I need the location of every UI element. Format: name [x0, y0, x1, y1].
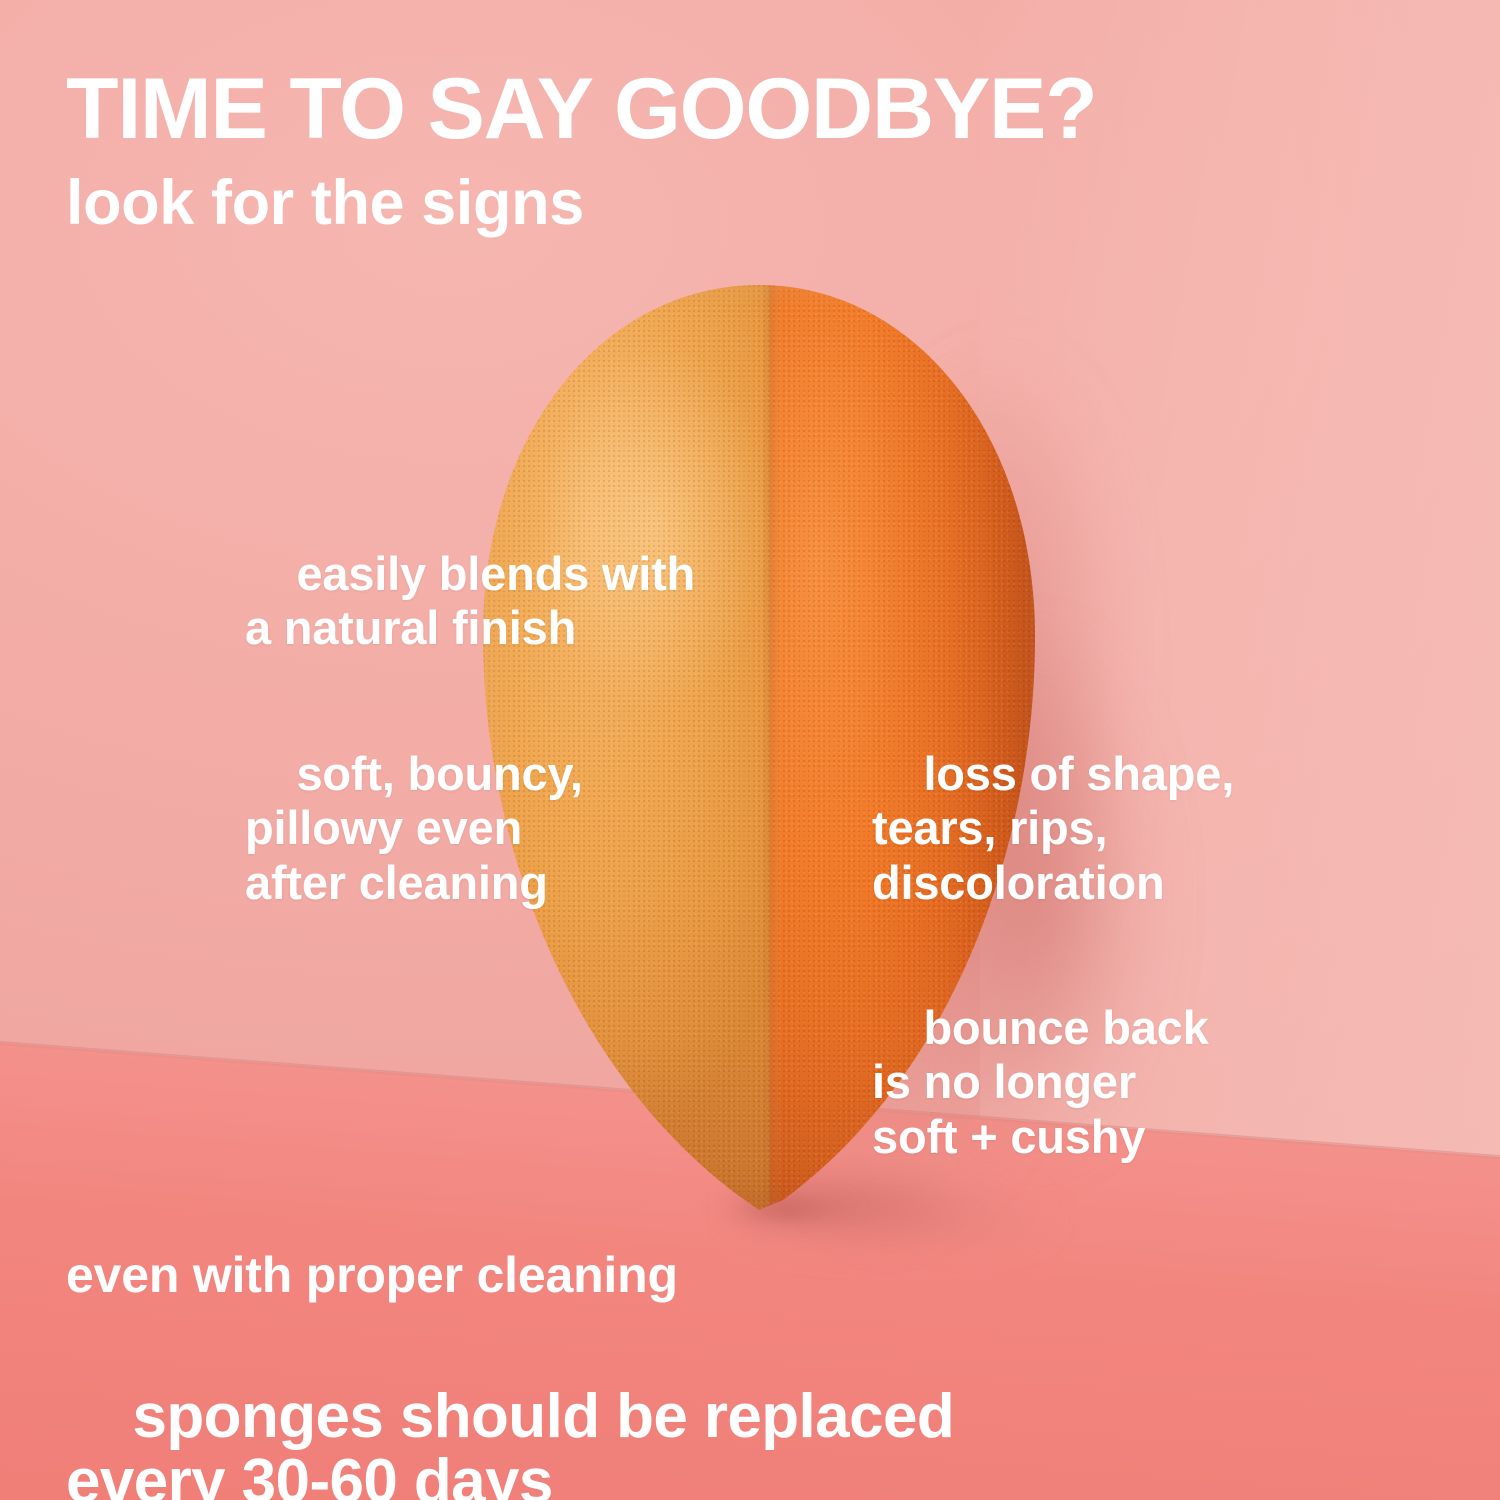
callout-line: loss of shape,	[923, 747, 1234, 800]
callout-line: soft + cushy	[872, 1110, 1145, 1163]
callout-loss-of-shape: loss of shape, tears, rips, discoloratio…	[872, 692, 1234, 965]
page-subtitle: look for the signs	[66, 172, 584, 235]
callout-bounce-back: bounce back is no longer soft + cushy	[872, 946, 1209, 1219]
callout-line: a natural finish	[245, 601, 576, 654]
callout-line: easily blends with	[296, 547, 695, 600]
callout-line: pillowy even	[245, 801, 522, 854]
callout-line: is no longer	[872, 1055, 1136, 1108]
page-title: TIME TO SAY GOODBYE?	[66, 66, 1097, 152]
callout-line: discoloration	[872, 856, 1164, 909]
infographic-canvas: TIME TO SAY GOODBYE? look for the signs …	[0, 0, 1500, 1500]
callout-line: tears, rips,	[872, 801, 1107, 854]
footer-line: every 30-60 days	[66, 1447, 553, 1500]
footer-note: even with proper cleaning	[66, 1250, 678, 1300]
callout-line: soft, bouncy,	[296, 747, 582, 800]
callout-line: bounce back	[923, 1001, 1208, 1054]
footer-line: sponges should be replaced	[133, 1382, 955, 1451]
callout-soft-bouncy: soft, bouncy, pillowy even after cleanin…	[245, 692, 583, 965]
footer-replacement-advice: sponges should be replaced every 30-60 d…	[66, 1318, 954, 1500]
callout-line: after cleaning	[245, 856, 548, 909]
callout-easily-blends: easily blends with a natural finish	[245, 492, 695, 710]
